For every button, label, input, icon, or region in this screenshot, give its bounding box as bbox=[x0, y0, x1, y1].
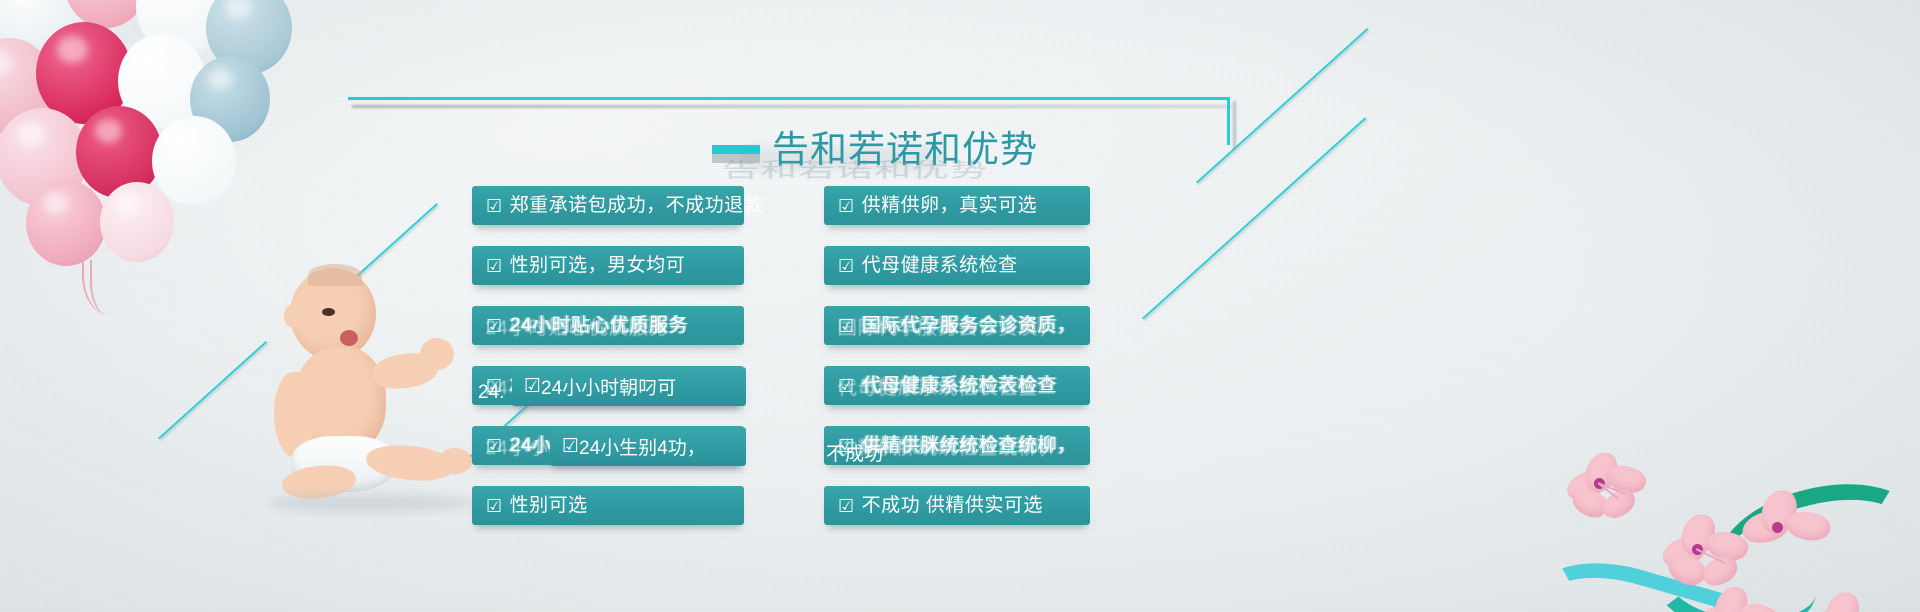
benefit-pill[interactable]: ☑24小时贴心优质服务24小时贴心优质服务 bbox=[472, 306, 744, 345]
checkmark-icon: ☑ bbox=[838, 377, 855, 395]
benefits-left-column: ☑郑重承诺包成功，不成功退款☑性别可选，男女均可☑24小时贴心优质服务24小时贴… bbox=[472, 186, 744, 546]
benefit-pill-label: 性别可选 bbox=[510, 496, 588, 515]
benefit-pill-label: 不成功 供精供实可选 bbox=[862, 496, 1043, 515]
benefit-pill[interactable]: ☑代母健康系统检查 bbox=[824, 246, 1090, 285]
checkmark-icon: ☑ bbox=[486, 497, 503, 515]
benefit-pill[interactable]: ☑供精供卵，真实可选 bbox=[824, 186, 1090, 225]
benefit-pill[interactable]: ☑郑重承诺包成功，不成功退款 bbox=[472, 186, 744, 225]
checkmark-icon: ☑ bbox=[486, 377, 503, 395]
checkmark-icon: ☑ bbox=[486, 197, 503, 215]
benefit-pill-label: 代母健康系统检查 bbox=[862, 256, 1018, 275]
checkmark-icon: ☑ bbox=[562, 435, 579, 458]
benefits-right-column: ☑供精供卵，真实可选☑代母健康系统检查☑国际代孕服务会诊资质，国际代孕服务会诊资… bbox=[824, 186, 1090, 546]
benefit-pill-label: 郑重承诺包成功，不成功退款 bbox=[510, 196, 764, 215]
frame-top-line bbox=[348, 97, 1230, 100]
checkmark-icon: ☑ bbox=[524, 375, 541, 398]
banner-title: 告和若诺和优势 bbox=[712, 131, 1038, 168]
benefit-pill-overlay-label: 24小生别4功， bbox=[579, 433, 706, 460]
benefit-pill-overlay[interactable]: ☑24小小时朝叼可 bbox=[512, 367, 746, 406]
benefit-pill[interactable]: ☑国际代孕服务会诊资质，国际代孕服务会诊资质， bbox=[824, 306, 1090, 345]
checkmark-icon: ☑ bbox=[838, 257, 855, 275]
benefit-pill[interactable]: ☑代母健康系统检䒾检查代母健康系统检䒾检查 bbox=[824, 366, 1090, 405]
checkmark-icon: ☑ bbox=[486, 437, 503, 455]
benefit-pill-label: 国际代孕服务会诊资质， bbox=[862, 316, 1077, 335]
benefit-pill-label: 代母健康系统检䒾检查 bbox=[862, 376, 1057, 395]
frame-top-shadow bbox=[352, 105, 1232, 108]
benefit-pill-overlay[interactable]: ☑24小生别4功， bbox=[550, 427, 746, 466]
benefit-pill[interactable]: ☑供精供脒统统检查统柳，供精供脒统统检查统柳， bbox=[824, 426, 1090, 465]
benefit-pill[interactable]: ☑性别可选，男女均可 bbox=[472, 246, 744, 285]
benefit-pill[interactable]: ☑不成功 供精供实可选 bbox=[824, 486, 1090, 525]
title-dash-icon bbox=[712, 145, 760, 154]
frame-right-line bbox=[1227, 97, 1230, 145]
checkmark-icon: ☑ bbox=[486, 257, 503, 275]
checkmark-icon: ☑ bbox=[838, 437, 855, 455]
checkmark-icon: ☑ bbox=[838, 197, 855, 215]
baby-photo-decoration bbox=[268, 268, 478, 508]
checkmark-icon: ☑ bbox=[838, 497, 855, 515]
benefit-pill-overlay-label: 24小小时朝叼可 bbox=[541, 373, 676, 400]
benefit-pill-label: 性别可选，男女均可 bbox=[510, 256, 686, 275]
banner-title-text: 告和若诺和优势 bbox=[772, 131, 1038, 168]
checkmark-icon: ☑ bbox=[838, 317, 855, 335]
benefit-pill-label: 供精供卵，真实可选 bbox=[862, 196, 1038, 215]
banner-canvas: 告和若诺和优势 告和若诺和优势 ☑郑重承诺包成功，不成功退款☑性别可选，男女均可… bbox=[0, 0, 1920, 612]
benefit-pill[interactable]: ☑性别可选 bbox=[472, 486, 744, 525]
benefit-pill-label: 24小时贴心优质服务 bbox=[510, 316, 688, 335]
checkmark-icon: ☑ bbox=[486, 317, 503, 335]
benefit-pill-label: 供精供脒统统检查统柳， bbox=[862, 436, 1077, 455]
balloon-cluster-decoration bbox=[0, 0, 380, 260]
frame-right-shadow bbox=[1233, 101, 1236, 149]
flower-ribbon-decoration bbox=[1540, 392, 1920, 612]
